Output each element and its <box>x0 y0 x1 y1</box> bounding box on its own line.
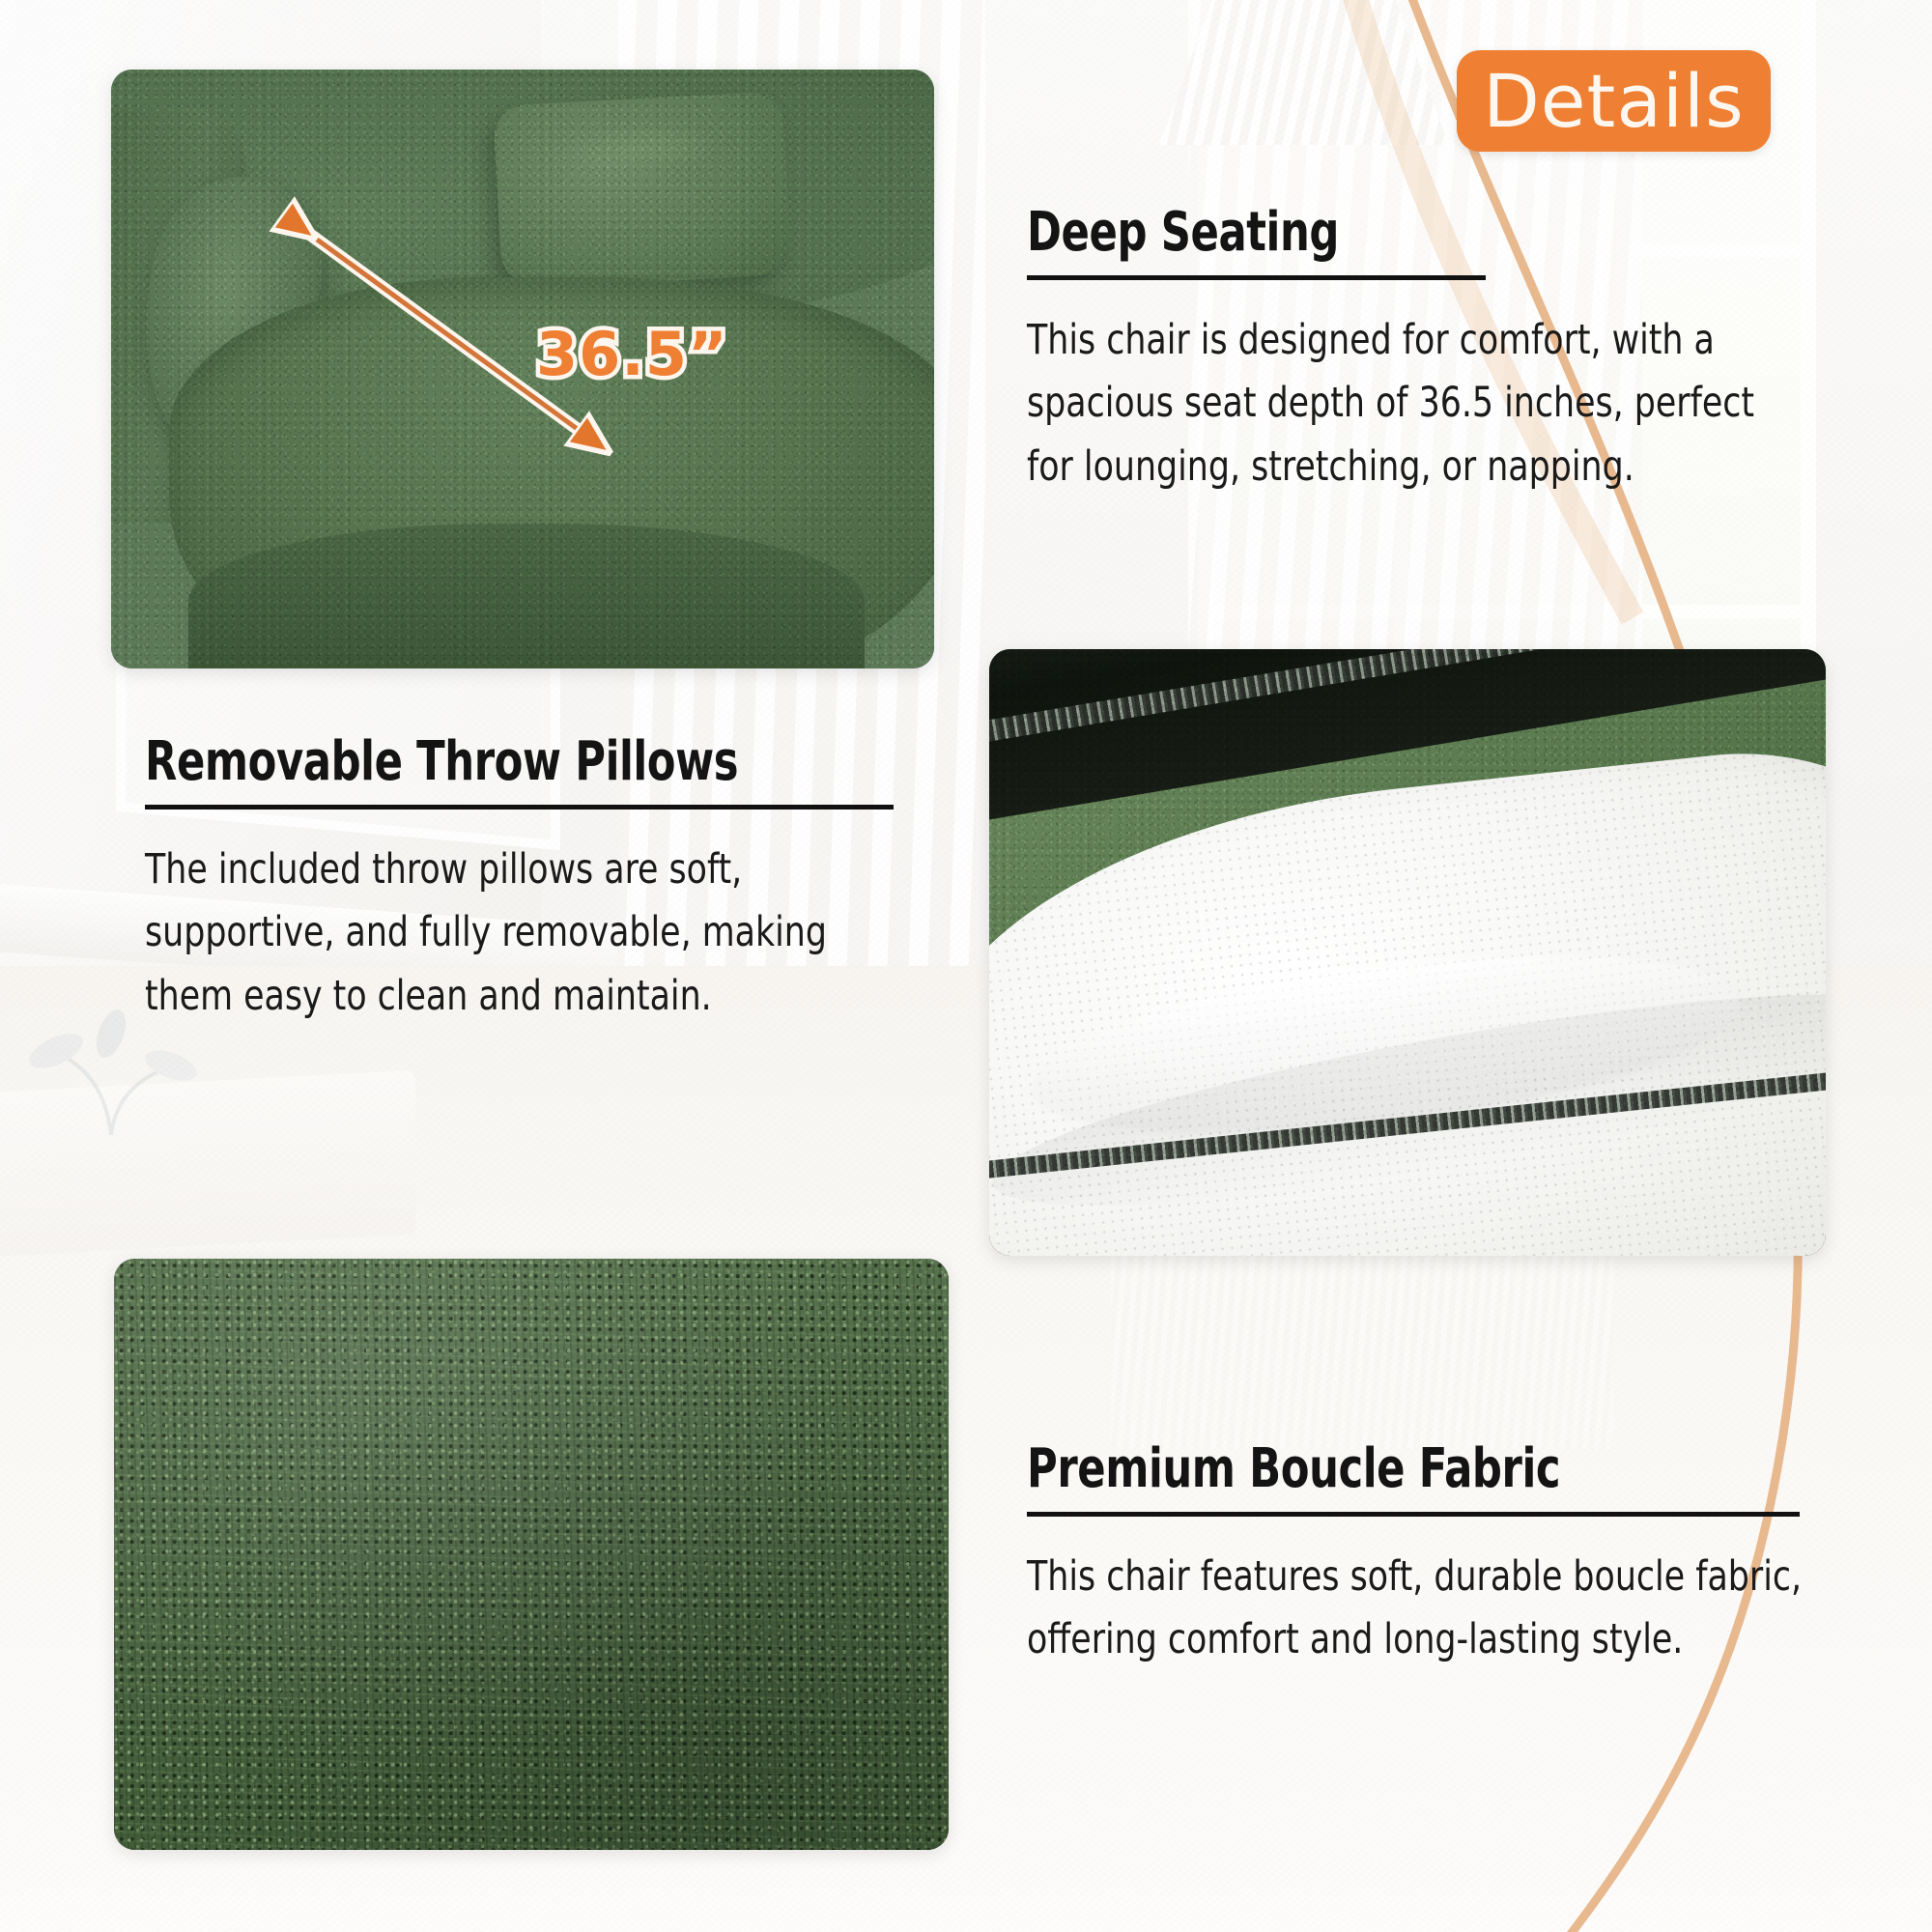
seat-depth-label: 36.5” <box>536 319 728 389</box>
heading-underline-deep-seating <box>1027 275 1486 280</box>
swatch-texture-shade <box>114 1259 949 1850</box>
heading-underline-removable-throw-pillows <box>145 805 894 810</box>
body-deep-seating: This chair is designed for comfort, with… <box>1027 309 1809 498</box>
section-removable-throw-pillows: Removable Throw Pillows The included thr… <box>145 734 947 1028</box>
details-badge: Details <box>1457 50 1771 152</box>
heading-removable-throw-pillows: Removable Throw Pillows <box>145 734 835 791</box>
section-deep-seating: Deep Seating This chair is designed for … <box>1027 205 1896 498</box>
fabric-swatch-photo <box>114 1259 949 1850</box>
heading-deep-seating: Deep Seating <box>1027 205 1775 262</box>
dimension-annotation-layer: 36.5” <box>111 70 934 668</box>
zipper-photo <box>989 649 1826 1256</box>
body-premium-boucle-fabric: This chair features soft, durable boucle… <box>1027 1546 1809 1672</box>
body-removable-throw-pillows: The included throw pillows are soft, sup… <box>145 838 867 1028</box>
details-badge-label: Details <box>1483 65 1744 138</box>
heading-premium-boucle-fabric: Premium Boucle Fabric <box>1027 1441 1775 1498</box>
section-premium-boucle-fabric: Premium Boucle Fabric This chair feature… <box>1027 1441 1896 1672</box>
seat-depth-photo: 36.5” <box>111 70 934 668</box>
heading-underline-premium-boucle-fabric <box>1027 1512 1800 1517</box>
boucle-texture-overlay-2 <box>989 649 1826 1256</box>
zipper-photo-scene <box>989 649 1826 1256</box>
boucle-fabric-swatch <box>114 1259 949 1850</box>
seat-depth-arrow-icon <box>111 70 934 668</box>
